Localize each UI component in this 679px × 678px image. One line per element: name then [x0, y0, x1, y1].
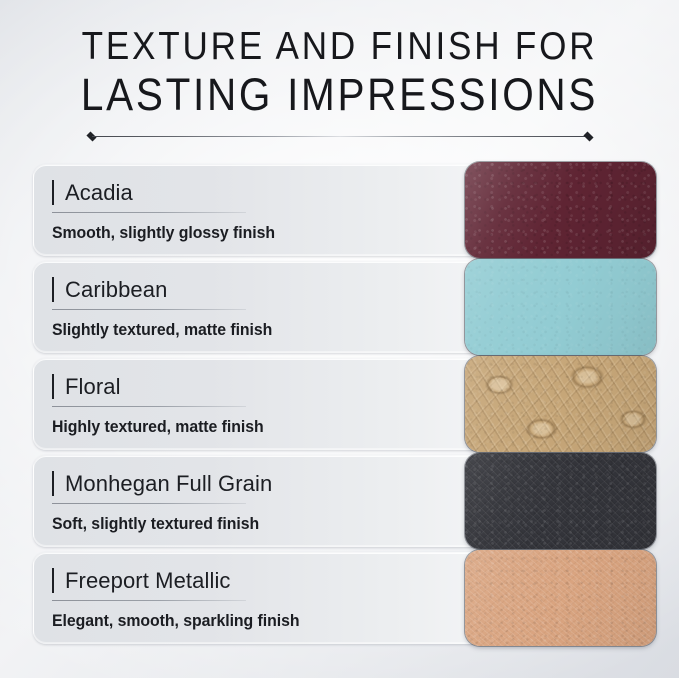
name-wrap: Monhegan Full Grain	[52, 468, 452, 500]
row-text: Caribbean Slightly textured, matte finis…	[52, 274, 452, 306]
name-underline	[52, 212, 246, 213]
finish-list: Acadia Smooth, slightly glossy finish Ca…	[0, 164, 679, 664]
infographic-page: TEXTURE AND FINISH FOR LASTING IMPRESSIO…	[0, 0, 679, 678]
color-swatch-acadia[interactable]	[465, 162, 656, 258]
row-text: Freeport Metallic Elegant, smooth, spark…	[52, 565, 452, 597]
finish-name: Freeport Metallic	[65, 565, 231, 597]
name-wrap: Floral	[52, 371, 452, 403]
accent-bar-icon	[52, 180, 54, 205]
accent-bar-icon	[52, 374, 54, 399]
swatch-sheen	[465, 550, 656, 646]
name-underline	[52, 600, 246, 601]
accent-bar-icon	[52, 471, 54, 496]
finish-description: Highly textured, matte finish	[52, 416, 264, 438]
name-underline	[52, 503, 246, 504]
swatch-sheen	[465, 162, 656, 258]
swatch-sheen	[465, 356, 656, 452]
name-wrap: Acadia	[52, 177, 452, 209]
finish-description: Soft, slightly textured finish	[52, 513, 259, 535]
finish-name: Acadia	[65, 177, 133, 209]
name-wrap: Freeport Metallic	[52, 565, 452, 597]
finish-name: Caribbean	[65, 274, 167, 306]
list-item[interactable]: Caribbean Slightly textured, matte finis…	[33, 261, 648, 353]
diamond-icon-right	[583, 131, 593, 141]
list-item[interactable]: Monhegan Full Grain Soft, slightly textu…	[33, 455, 648, 547]
finish-name: Floral	[65, 371, 121, 403]
accent-bar-icon	[52, 277, 54, 302]
name-underline	[52, 309, 246, 310]
list-item[interactable]: Acadia Smooth, slightly glossy finish	[33, 164, 648, 256]
page-title-line-1: TEXTURE AND FINISH FOR	[34, 25, 645, 69]
swatch-sheen	[465, 259, 656, 355]
row-text: Acadia Smooth, slightly glossy finish	[52, 177, 452, 209]
color-swatch-caribbean[interactable]	[465, 259, 656, 355]
title-divider	[86, 131, 594, 142]
color-swatch-freeport-metallic[interactable]	[465, 550, 656, 646]
name-wrap: Caribbean	[52, 274, 452, 306]
name-underline	[52, 406, 246, 407]
color-swatch-floral[interactable]	[465, 356, 656, 452]
row-text: Floral Highly textured, matte finish	[52, 371, 452, 403]
finish-description: Slightly textured, matte finish	[52, 319, 272, 341]
header: TEXTURE AND FINISH FOR LASTING IMPRESSIO…	[0, 0, 679, 152]
finish-description: Elegant, smooth, sparkling finish	[52, 610, 300, 632]
list-item[interactable]: Floral Highly textured, matte finish	[33, 358, 648, 450]
divider-line	[92, 136, 588, 137]
page-title-line-2: LASTING IMPRESSIONS	[34, 70, 645, 120]
row-text: Monhegan Full Grain Soft, slightly textu…	[52, 468, 452, 500]
finish-name: Monhegan Full Grain	[65, 468, 272, 500]
accent-bar-icon	[52, 568, 54, 593]
color-swatch-monhegan-full-grain[interactable]	[465, 453, 656, 549]
finish-description: Smooth, slightly glossy finish	[52, 222, 275, 244]
list-item[interactable]: Freeport Metallic Elegant, smooth, spark…	[33, 552, 648, 644]
swatch-sheen	[465, 453, 656, 549]
